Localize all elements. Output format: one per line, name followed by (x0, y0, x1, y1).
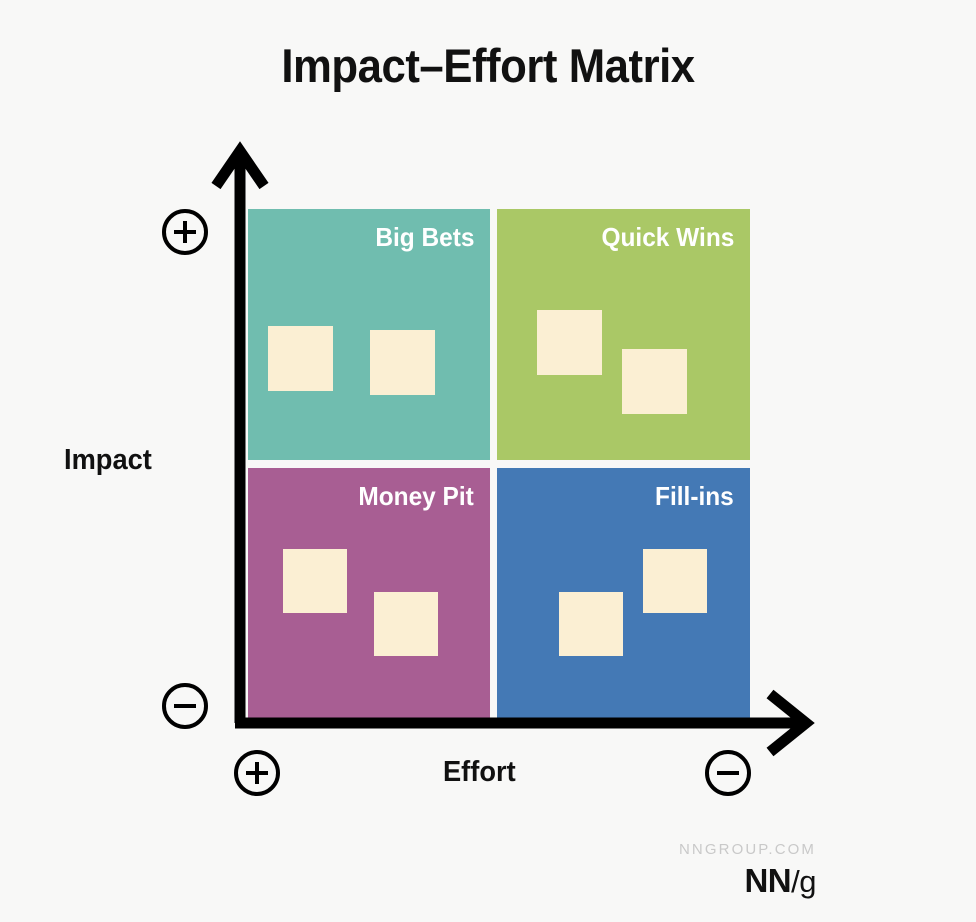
plus-vertical-bar (183, 221, 187, 243)
sticky-note[interactable] (537, 310, 602, 375)
quadrant-money-pit[interactable]: Money Pit (248, 468, 490, 723)
site-url-text: NNGROUP.COM (679, 841, 816, 858)
plus-sign-icon-effort-high (234, 750, 280, 796)
quadrant-label-fill-ins: Fill-ins (655, 481, 734, 512)
plus-vertical-bar (255, 762, 259, 784)
y-axis-arrowhead (216, 151, 264, 186)
quadrant-fill-ins[interactable]: Fill-ins (497, 468, 750, 723)
quadrant-label-money-pit: Money Pit (359, 481, 474, 512)
sticky-note[interactable] (559, 592, 623, 656)
y-axis-label: Impact (64, 444, 152, 477)
x-axis-label: Effort (443, 756, 516, 789)
impact-effort-matrix-diagram: Impact–Effort Matrix Big Bets Quick Wins… (0, 0, 976, 922)
x-axis-arrowhead (770, 694, 806, 752)
sticky-note[interactable] (622, 349, 687, 414)
sticky-note[interactable] (283, 549, 347, 613)
plus-sign-icon-impact-high (162, 209, 208, 255)
quadrant-label-big-bets: Big Bets (375, 222, 474, 253)
quadrant-quick-wins[interactable]: Quick Wins (497, 209, 750, 460)
sticky-note[interactable] (374, 592, 438, 656)
minus-horizontal-bar (174, 704, 196, 708)
minus-horizontal-bar (717, 771, 739, 775)
nng-logo-light: /g (791, 864, 816, 899)
sticky-note[interactable] (268, 326, 333, 391)
quadrant-label-quick-wins: Quick Wins (601, 222, 734, 253)
minus-sign-icon-effort-low (705, 750, 751, 796)
sticky-note[interactable] (643, 549, 707, 613)
quadrant-big-bets[interactable]: Big Bets (248, 209, 490, 460)
nng-logo: NN/g (744, 862, 816, 900)
nng-logo-bold: NN (744, 862, 791, 899)
sticky-note[interactable] (370, 330, 435, 395)
page-title: Impact–Effort Matrix (34, 40, 942, 92)
minus-sign-icon-impact-low (162, 683, 208, 729)
